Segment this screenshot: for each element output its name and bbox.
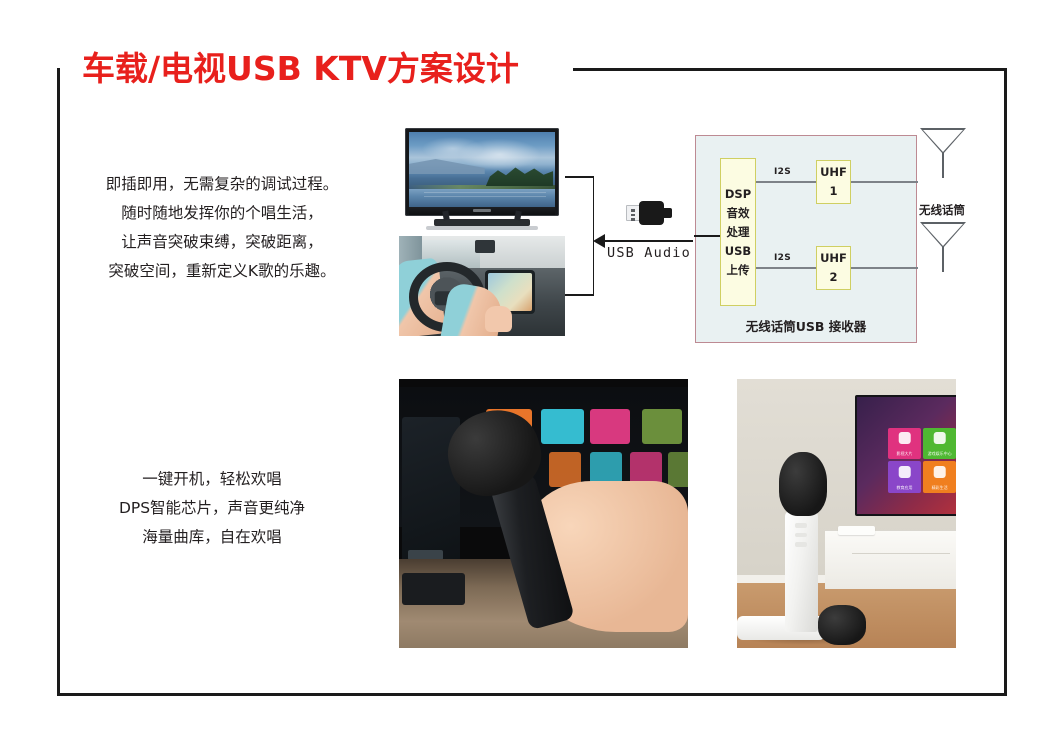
remote-control: [838, 526, 875, 535]
diagram-input-line: [694, 235, 721, 237]
media-tile: [541, 409, 584, 444]
tv-app-tile-label: 精彩生活: [923, 485, 956, 491]
slide-canvas: 车载/电视USB KTV方案设计 即插即用，无需复杂的调试过程。随时随地发挥你的…: [0, 0, 1061, 749]
antenna-mast: [942, 247, 944, 272]
wall-television: 影视大片游戏娱乐中心教育应用精彩生活: [855, 395, 956, 516]
receiver-block-diagram: DSP音效处理USB上传 UHF 1 UHF 2 I2S I2S 无线话筒USB…: [695, 135, 917, 343]
mic-in-car-photo: [399, 379, 688, 648]
antenna-dish: [920, 222, 966, 248]
wireless-microphone-label: 无线话筒: [919, 202, 965, 218]
tv-logo: [473, 209, 491, 212]
tv-app-tile: 影视大片: [888, 428, 921, 460]
frame-border-right: [1004, 68, 1007, 696]
driver-hand: [485, 306, 512, 332]
intro-paragraph: 即插即用，无需复杂的调试过程。随时随地发挥你的个唱生活，让声音突破束缚，突破距离…: [62, 170, 382, 286]
landscape-water: [409, 189, 555, 207]
car-mirror: [475, 240, 495, 253]
media-tile: [668, 452, 688, 487]
television-photo: [399, 126, 565, 232]
uhf2-block: UHF 2: [816, 246, 851, 290]
dsp-to-uhf1-line: [756, 181, 816, 183]
tv-app-tile: 游戏娱乐中心: [923, 428, 956, 460]
uhf1-block: UHF 1: [816, 160, 851, 204]
feature-paragraph: 一键开机，轻松欢唱DPS智能芯片，声音更纯净海量曲库，自在欢唱: [62, 465, 362, 552]
tv-app-tile-label: 影视大片: [888, 451, 921, 457]
landscape-hill: [409, 159, 485, 174]
diagram-caption: 无线话筒USB 接收器: [696, 316, 916, 335]
tv-chin: [409, 207, 555, 215]
tv-app-tile-label: 教育应用: [888, 485, 921, 491]
media-tile: [642, 409, 682, 444]
antenna-mast: [942, 153, 944, 178]
usb-audio-label: USB Audio: [607, 245, 691, 261]
tv-bezel-icon: [405, 128, 559, 216]
media-tile: [549, 452, 581, 487]
media-tile: [590, 409, 630, 444]
page-title: 车载/电视USB KTV方案设计: [82, 42, 519, 90]
dsp-to-uhf2-line: [756, 267, 816, 269]
frame-border-bottom: [57, 693, 1007, 696]
usb-plug-icon: [626, 201, 672, 225]
microphone-standing-foam-head: [779, 452, 827, 517]
photo-group-bracket: [565, 176, 595, 296]
tv-app-tile: 教育应用: [888, 461, 921, 493]
tv-app-tile: 精彩生活: [923, 461, 956, 493]
dsp-block: DSP音效处理USB上传: [720, 158, 756, 306]
i2s-label-2: I2S: [774, 253, 791, 263]
frame-border-left: [57, 68, 60, 696]
bracket-bottom: [565, 294, 594, 296]
tv-app-tile-label: 游戏娱乐中心: [923, 451, 956, 457]
tv-stand: [434, 219, 530, 226]
bracket-top: [565, 176, 594, 178]
frame-border-top: [573, 68, 1007, 71]
usb-plug-body: [639, 201, 664, 225]
landscape-trees: [486, 164, 553, 187]
microphone-lying-foam-head: [818, 605, 866, 645]
tv-cabinet: [825, 530, 956, 589]
uhf2-to-antenna-line: [851, 267, 918, 269]
arrow-shaft: [600, 240, 693, 242]
car-air-vent: [402, 573, 466, 605]
microphone-standing-body: [785, 511, 818, 632]
tv-screen-image: [409, 132, 555, 207]
mics-living-room-photo: 影视大片游戏娱乐中心教育应用精彩生活: [737, 379, 956, 648]
antenna-icon-2: [920, 222, 966, 272]
car-dashboard-photo: [399, 236, 565, 336]
i2s-label-1: I2S: [774, 167, 791, 177]
antenna-icon-1: [920, 128, 966, 178]
antenna-dish: [920, 128, 966, 154]
tv-stand-foot: [426, 226, 538, 230]
tv-app-tiles: 影视大片游戏娱乐中心教育应用精彩生活: [888, 428, 956, 494]
uhf1-to-antenna-line: [851, 181, 918, 183]
usb-plug-tail: [662, 208, 672, 218]
